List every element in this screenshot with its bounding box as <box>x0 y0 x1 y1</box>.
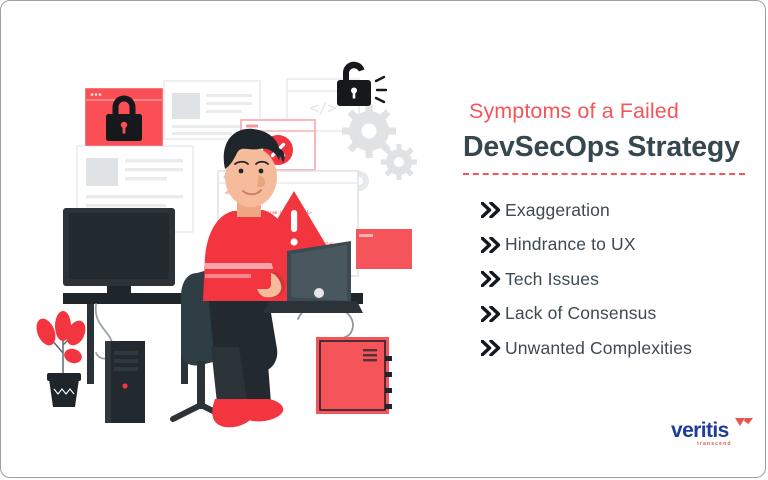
dashed-divider <box>463 173 745 175</box>
page-title: DevSecOps Strategy <box>463 131 763 164</box>
list-item-label: Unwanted Complexities <box>505 338 692 359</box>
red-panel-small <box>356 229 412 269</box>
logo-swoosh-icon <box>735 417 753 435</box>
red-server-box <box>316 337 392 414</box>
double-chevron-right-icon <box>481 306 505 322</box>
infographic-canvas: </> <box>0 0 766 478</box>
logo-tagline: transcend <box>697 441 732 447</box>
list-item: Unwanted Complexities <box>481 331 766 366</box>
illustration-developer-at-desk: </> <box>1 1 441 478</box>
content-panel: Symptoms of a Failed DevSecOps Strategy … <box>441 1 766 478</box>
symptoms-list: Exaggeration Hindrance to UX Tech Issues… <box>481 193 766 366</box>
list-item: Tech Issues <box>481 262 766 297</box>
list-item: Lack of Consensus <box>481 297 766 332</box>
double-chevron-right-icon <box>481 271 505 287</box>
pc-tower <box>105 341 145 423</box>
padlock-open-icon <box>337 62 386 106</box>
list-item: Hindrance to UX <box>481 228 766 263</box>
desktop-monitor <box>63 208 175 293</box>
logo-wordmark: veritis <box>671 420 729 441</box>
brand-logo: veritis transcend <box>671 416 761 456</box>
list-item-label: Hindrance to UX <box>505 234 636 255</box>
double-chevron-right-icon <box>481 237 505 253</box>
list-item-label: Lack of Consensus <box>505 303 656 324</box>
title-eyebrow: Symptoms of a Failed <box>469 99 759 124</box>
double-chevron-right-icon <box>481 202 505 218</box>
list-item: Exaggeration <box>481 193 766 228</box>
list-item-label: Tech Issues <box>505 269 599 290</box>
padlock-closed-window <box>86 89 162 145</box>
double-chevron-right-icon <box>481 340 505 356</box>
list-item-label: Exaggeration <box>505 200 610 221</box>
potted-plant <box>33 311 89 407</box>
svg-text:</>: </> <box>309 99 336 117</box>
